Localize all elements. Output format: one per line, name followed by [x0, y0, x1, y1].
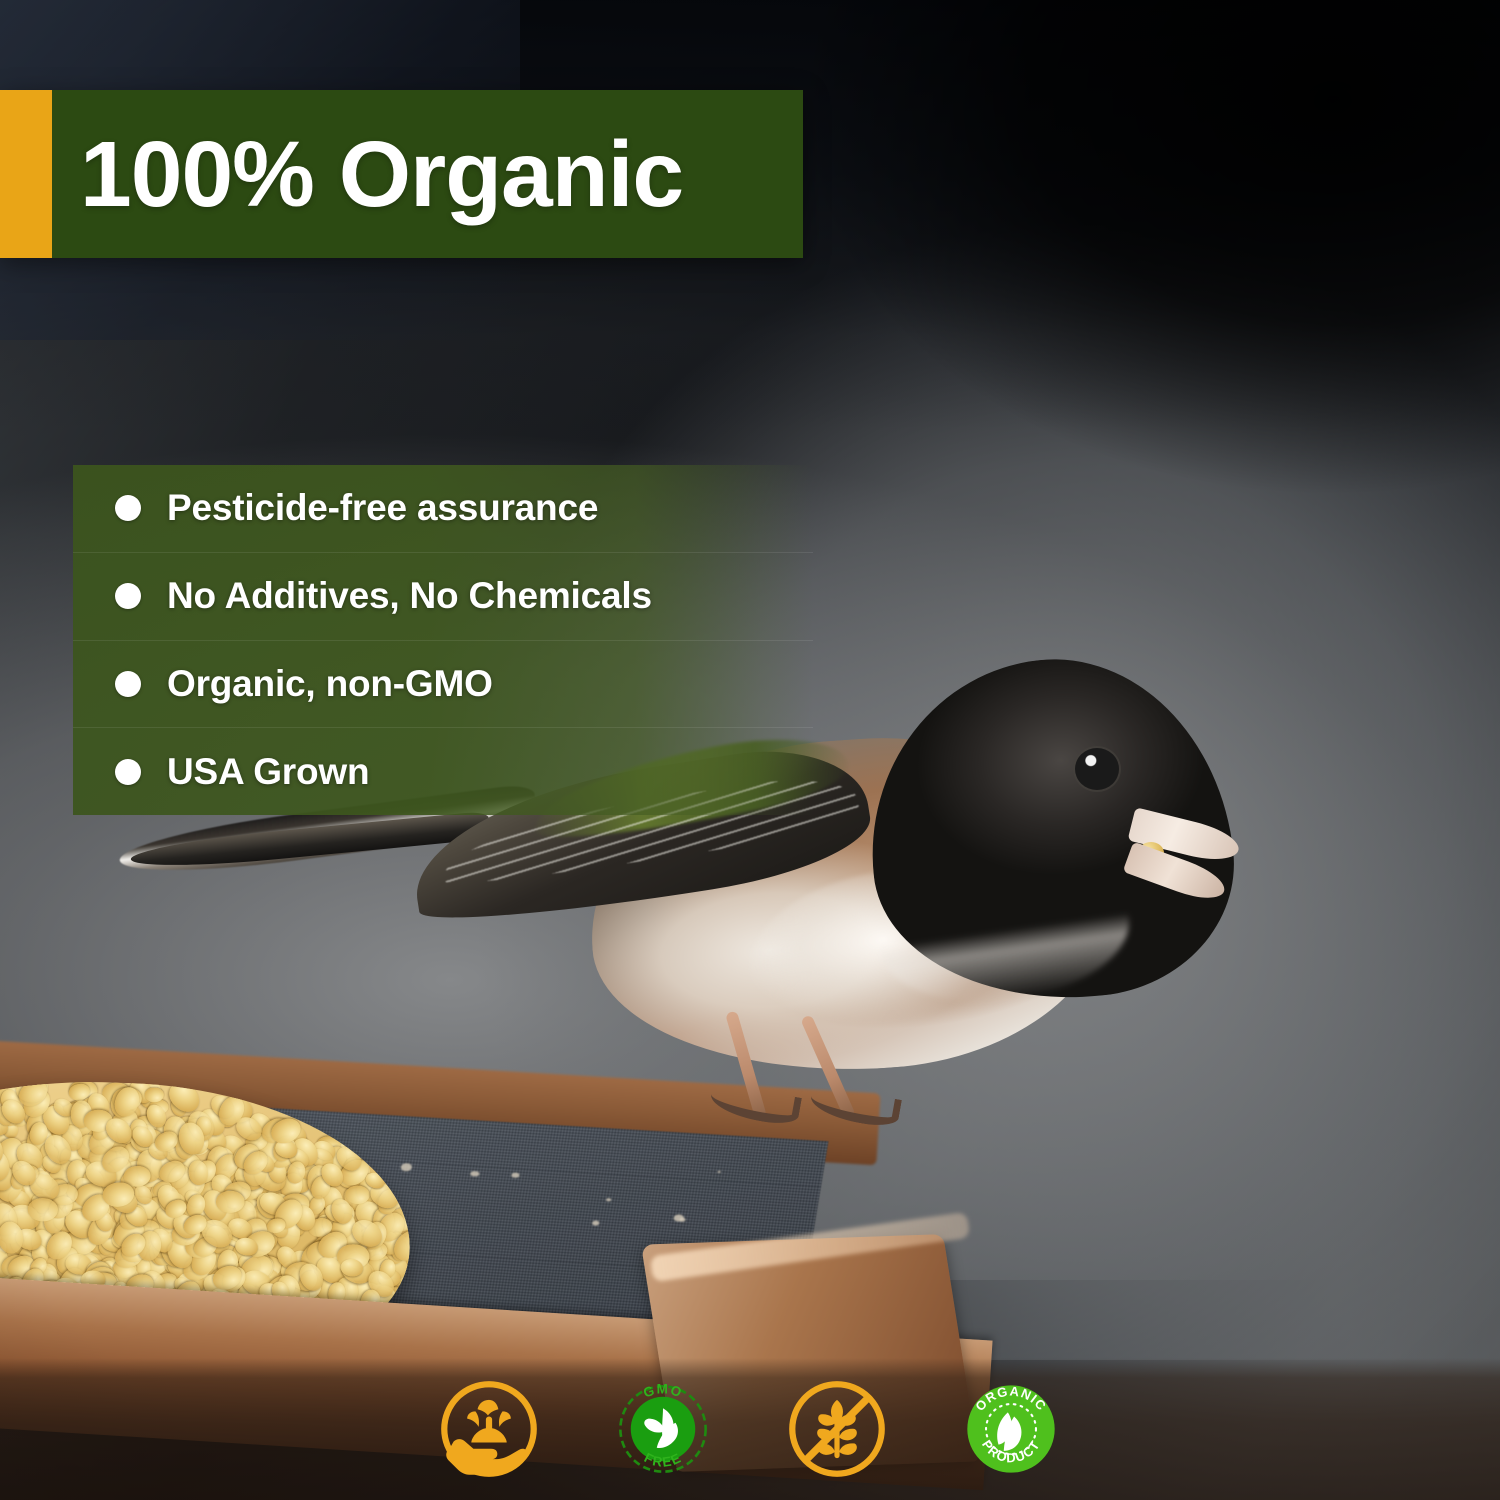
list-item: Organic, non-GMO: [73, 641, 813, 729]
feature-label: USA Grown: [167, 751, 369, 793]
certification-badge-bar: GMO FREE: [0, 1358, 1500, 1500]
feature-label: Organic, non-GMO: [167, 663, 493, 705]
bullet-dot-icon: [115, 671, 141, 697]
feature-label: Pesticide-free assurance: [167, 487, 598, 529]
organic-product-badge: ORGANIC PRODUCT: [959, 1377, 1063, 1481]
list-item: Pesticide-free assurance: [73, 465, 813, 553]
bird-eye: [1075, 748, 1119, 790]
page-title: 100% Organic: [80, 128, 683, 221]
feature-list-panel: Pesticide-free assurance No Additives, N…: [73, 465, 813, 815]
product-feature-image: 100% Organic Pesticide-free assurance No…: [0, 0, 1500, 1500]
header-green-panel: 100% Organic: [52, 90, 803, 258]
header-accent-bar: [0, 90, 52, 258]
gmo-free-badge: GMO FREE: [611, 1377, 715, 1481]
header-banner: 100% Organic: [0, 90, 803, 258]
bullet-dot-icon: [115, 495, 141, 521]
list-item: No Additives, No Chemicals: [73, 553, 813, 641]
list-item: USA Grown: [73, 728, 813, 815]
naturally-grown-badge: [437, 1377, 541, 1481]
bullet-dot-icon: [115, 583, 141, 609]
hand-holding-sprout-icon: [446, 1400, 528, 1475]
photo-dark-corner: [740, 0, 1500, 560]
gluten-free-badge: [785, 1377, 889, 1481]
bullet-dot-icon: [115, 759, 141, 785]
feature-label: No Additives, No Chemicals: [167, 575, 652, 617]
